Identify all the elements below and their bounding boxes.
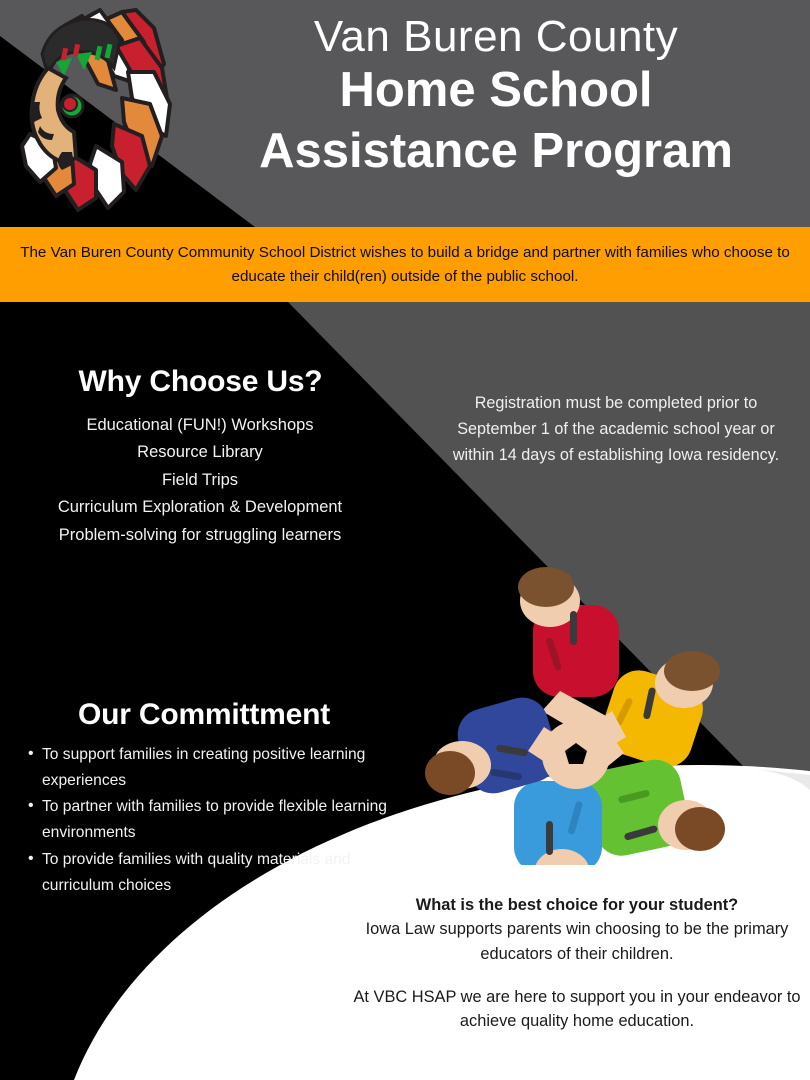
teamwork-students-illustration (416, 565, 736, 865)
poster-header: Van Buren County Home School Assistance … (0, 0, 810, 227)
bullet-icon: • (28, 846, 34, 872)
mission-banner: The Van Buren County Community School Di… (0, 227, 810, 302)
list-item: Resource Library (22, 439, 378, 466)
red-student-hair-top (518, 567, 574, 607)
list-item-label: To provide families with quality materia… (42, 851, 351, 894)
footer-question: What is the best choice for your student… (352, 893, 802, 917)
ear-medallion-center (63, 97, 77, 111)
footer-spacer (352, 966, 802, 985)
blue-student-hair (425, 751, 475, 795)
list-item: • To support families in creating positi… (26, 742, 398, 793)
footer-paragraph-2: At VBC HSAP we are here to support you i… (352, 985, 802, 1034)
chief-mascot-icon (4, 6, 176, 214)
title-line-county: Van Buren County (190, 14, 802, 61)
footer-text-block: What is the best choice for your student… (352, 893, 802, 1033)
footer-paragraph-1: Iowa Law supports parents win choosing t… (352, 917, 802, 966)
mission-banner-text: The Van Buren County Community School Di… (0, 241, 810, 287)
green-student-hair (675, 807, 725, 851)
our-commitment-heading: Our Committment (36, 698, 372, 732)
yellow-student-hair (664, 651, 720, 691)
why-choose-us-heading: Why Choose Us? (38, 365, 363, 399)
list-item: Problem-solving for struggling learners (22, 522, 378, 549)
title-line-assistance-program: Assistance Program (190, 120, 802, 184)
why-choose-us-list: Educational (FUN!) Workshops Resource Li… (22, 412, 378, 549)
lightblue-student-arm-shadow (546, 821, 553, 855)
list-item: • To provide families with quality mater… (26, 847, 398, 898)
list-item: Field Trips (22, 467, 378, 494)
bullet-icon: • (28, 741, 34, 767)
red-student-arm-shadow (570, 611, 577, 645)
title-line-home-school: Home School (190, 61, 802, 121)
bullet-icon: • (28, 793, 34, 819)
poster-canvas: Van Buren County Home School Assistance … (0, 0, 810, 1080)
header-title-block: Van Buren County Home School Assistance … (190, 14, 802, 184)
list-item-label: To support families in creating positive… (42, 746, 365, 789)
list-item: Curriculum Exploration & Development (22, 494, 378, 521)
our-commitment-list: • To support families in creating positi… (26, 742, 398, 899)
registration-deadline-text: Registration must be completed prior to … (448, 390, 784, 469)
list-item-label: To partner with families to provide flex… (42, 798, 387, 841)
list-item: • To partner with families to provide fl… (26, 794, 398, 845)
list-item: Educational (FUN!) Workshops (22, 412, 378, 439)
